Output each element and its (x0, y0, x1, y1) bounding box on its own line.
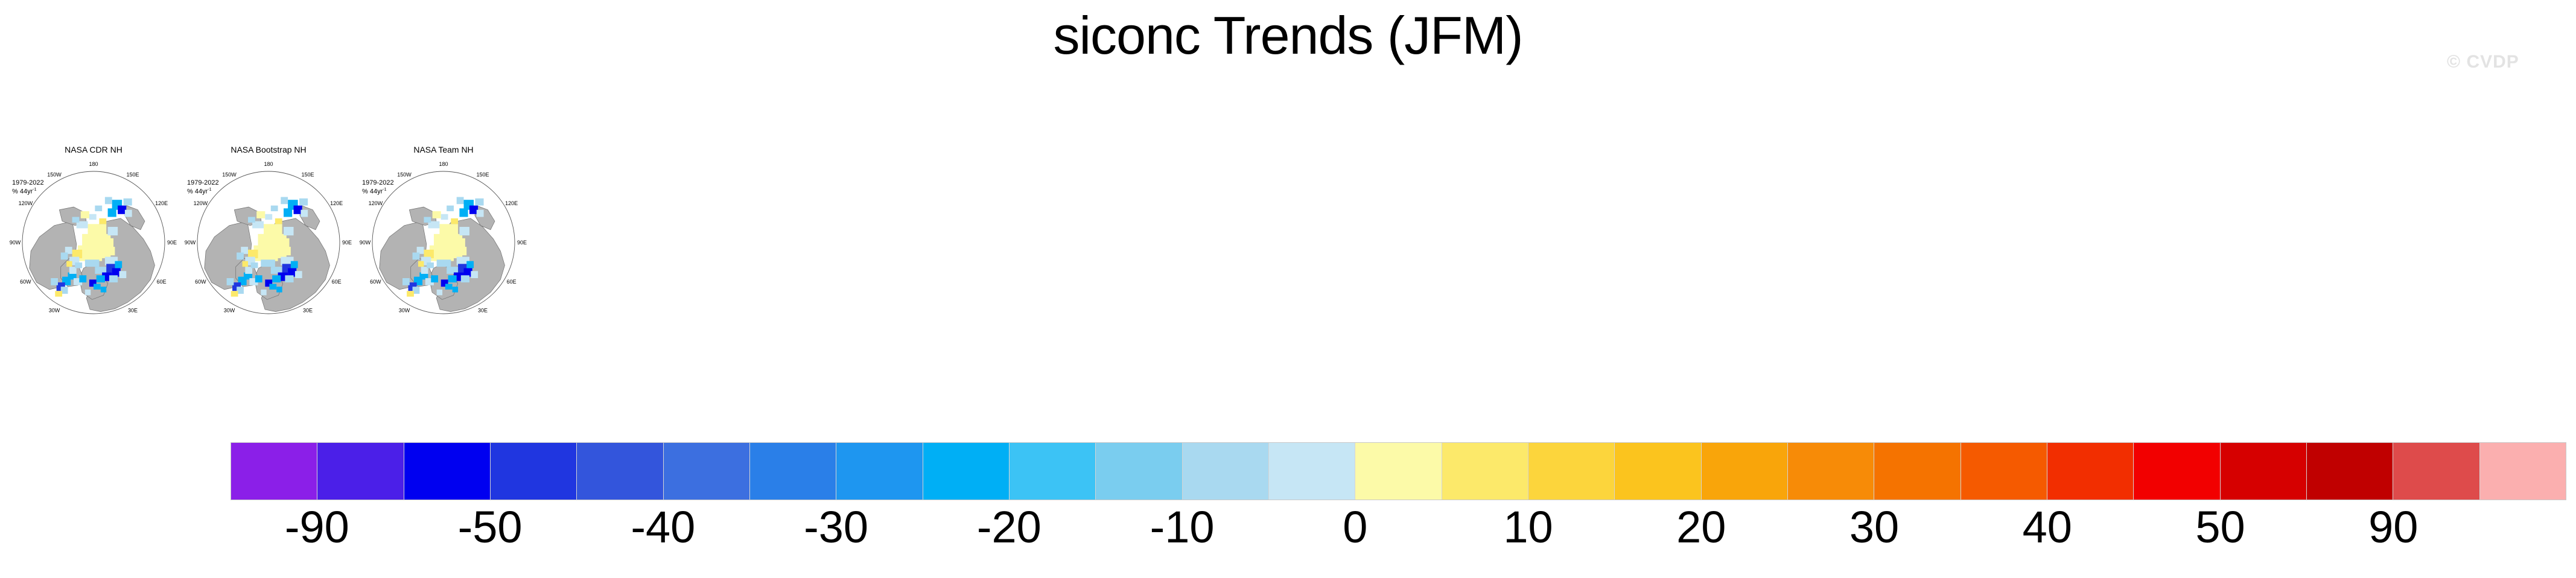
trend-cell (108, 208, 116, 217)
longitude-label: 90W (360, 240, 371, 246)
longitude-label: 30E (478, 308, 488, 314)
trend-cell (439, 224, 458, 235)
trend-cell (261, 290, 266, 295)
colorbar-tick-label: 0 (1343, 505, 1367, 550)
trend-cell (119, 271, 126, 278)
trend-cell (445, 284, 453, 289)
longitude-label: 30W (399, 308, 410, 314)
longitude-label: 150W (222, 171, 237, 177)
trend-cell (448, 275, 457, 282)
trend-cell (276, 287, 282, 292)
trend-cell (251, 262, 258, 268)
longitude-label: 90W (10, 240, 21, 246)
trend-cell (433, 211, 441, 218)
map-panel: NASA CDR NH1979-2022% 44yr-1180150W120W9… (6, 145, 181, 326)
trend-cell (281, 197, 288, 204)
trend-cell (413, 253, 420, 260)
longitude-label: 90E (167, 240, 177, 246)
trend-cell (284, 208, 292, 217)
trend-cell (418, 261, 424, 267)
longitude-label: 180 (89, 161, 98, 167)
trend-cell (109, 275, 118, 282)
trend-cell (61, 253, 68, 260)
longitude-label: 90E (517, 240, 527, 246)
trend-cell (51, 278, 58, 285)
trend-cell (75, 262, 82, 268)
trend-cell (475, 198, 483, 206)
trend-cell (124, 198, 132, 206)
longitude-label: 120E (155, 200, 168, 206)
trend-cell (471, 271, 478, 278)
colorbar-tick-label: -30 (804, 505, 868, 550)
colorbar-tick-label: 90 (2368, 505, 2418, 550)
longitude-label: 120W (19, 200, 33, 206)
trend-cell (284, 227, 294, 235)
trend-cell (458, 247, 466, 255)
trend-cell (459, 208, 468, 217)
trend-cell (85, 290, 91, 295)
map-panel-title: NASA CDR NH (6, 145, 181, 154)
longitude-label: 120W (194, 200, 208, 206)
trend-cell (99, 218, 106, 224)
colorbar-tick-labels: -90-50-40-30-20-100102030405090 (0, 442, 2576, 521)
trend-cell (461, 275, 469, 282)
trend-cell (272, 275, 281, 282)
polar-stereographic-map: 180150W120W90W60W30W30E60E90E120E150E (356, 158, 531, 326)
trend-cell (437, 290, 442, 295)
longitude-label: 90E (342, 240, 352, 246)
colorbar-tick-label: -20 (977, 505, 1042, 550)
trend-cell (265, 214, 272, 220)
trend-cell (291, 261, 298, 268)
longitude-label: 60E (507, 279, 517, 285)
trend-cell (115, 261, 122, 268)
longitude-label: 90W (185, 240, 196, 246)
trend-cell (285, 275, 293, 282)
trend-cell (256, 211, 265, 218)
trend-cell (55, 291, 62, 296)
map-panel: NASA Team NH1979-2022% 44yr-1180150W120W… (356, 145, 531, 326)
longitude-label: 30W (224, 308, 235, 314)
trend-cell (453, 287, 458, 292)
colorbar-tick-label: 30 (1849, 505, 1899, 550)
longitude-label: 60W (195, 279, 206, 285)
trend-cell (282, 247, 291, 255)
trend-cell (231, 291, 238, 296)
trend-cell (407, 291, 414, 296)
polar-stereographic-map: 180150W120W90W60W30W30E60E90E120E150E (6, 158, 181, 326)
trend-cell (89, 214, 97, 220)
trend-cell (105, 197, 112, 204)
trend-cell (125, 210, 132, 217)
trend-cell (451, 218, 458, 224)
longitude-label: 30W (49, 308, 60, 314)
trend-cell (81, 211, 89, 218)
trend-cell (106, 247, 115, 255)
colorbar-tick-label: 10 (1503, 505, 1553, 550)
longitude-label: 150E (126, 171, 139, 177)
longitude-label: 120E (505, 200, 518, 206)
longitude-label: 150W (397, 171, 412, 177)
trend-cell (457, 197, 464, 204)
trend-cell (255, 275, 262, 282)
longitude-label: 60W (20, 279, 31, 285)
polar-stereographic-map: 180150W120W90W60W30W30E60E90E120E150E (181, 158, 356, 326)
trend-cell (94, 284, 101, 289)
colorbar-tick-label: -40 (631, 505, 695, 550)
trend-cell (295, 271, 302, 278)
trend-cell (227, 278, 234, 285)
map-panel-title: NASA Bootstrap NH (181, 145, 356, 154)
longitude-label: 180 (264, 161, 273, 167)
trend-cell (79, 275, 86, 282)
trend-cell (271, 206, 278, 211)
trend-cell (437, 259, 451, 267)
trend-cell (97, 275, 105, 282)
trend-cell (88, 224, 107, 235)
trend-cell (275, 218, 282, 224)
trend-cell (447, 206, 454, 211)
map-panel-title: NASA Team NH (356, 145, 531, 154)
trend-cell (66, 261, 72, 267)
colorbar-tick-label: 20 (1676, 505, 1726, 550)
trend-cell (441, 214, 448, 220)
page-title: siconc Trends (JFM) (0, 5, 2576, 66)
trend-cell (299, 198, 308, 206)
trend-cell (424, 217, 431, 223)
colorbar-tick-label: 40 (2023, 505, 2072, 550)
trend-cell (477, 210, 484, 217)
trend-cell (459, 227, 469, 235)
trend-cell (237, 253, 244, 260)
trend-cell (248, 217, 255, 223)
longitude-label: 150E (476, 171, 489, 177)
longitude-label: 120W (369, 200, 383, 206)
trend-cell (269, 284, 276, 289)
map-panel: NASA Bootstrap NH1979-2022% 44yr-1180150… (181, 145, 356, 326)
longitude-label: 180 (439, 161, 448, 167)
trend-cell (466, 261, 474, 268)
trend-cell (243, 261, 248, 267)
longitude-label: 60W (370, 279, 381, 285)
trend-cell (427, 262, 434, 268)
trend-cell (431, 275, 438, 282)
colorbar-tick-label: -50 (458, 505, 523, 550)
longitude-label: 150W (47, 171, 62, 177)
trend-cell (85, 259, 100, 267)
longitude-label: 60E (332, 279, 342, 285)
colorbar-tick-label: 50 (2195, 505, 2245, 550)
trend-cell (261, 259, 275, 267)
trend-cell (108, 227, 118, 235)
colorbar-tick-label: -10 (1150, 505, 1215, 550)
colorbar-tick-label: -90 (285, 505, 349, 550)
longitude-label: 150E (301, 171, 314, 177)
trend-cell (72, 217, 80, 223)
trend-cell (95, 206, 102, 211)
trend-cell (402, 278, 410, 285)
longitude-label: 30E (303, 308, 313, 314)
longitude-label: 120E (330, 200, 343, 206)
trend-cell (264, 224, 282, 235)
trend-cell (101, 287, 106, 292)
longitude-label: 60E (157, 279, 167, 285)
trend-cell (301, 210, 308, 217)
longitude-label: 30E (128, 308, 138, 314)
cvdp-watermark: © CVDP (2447, 52, 2519, 72)
